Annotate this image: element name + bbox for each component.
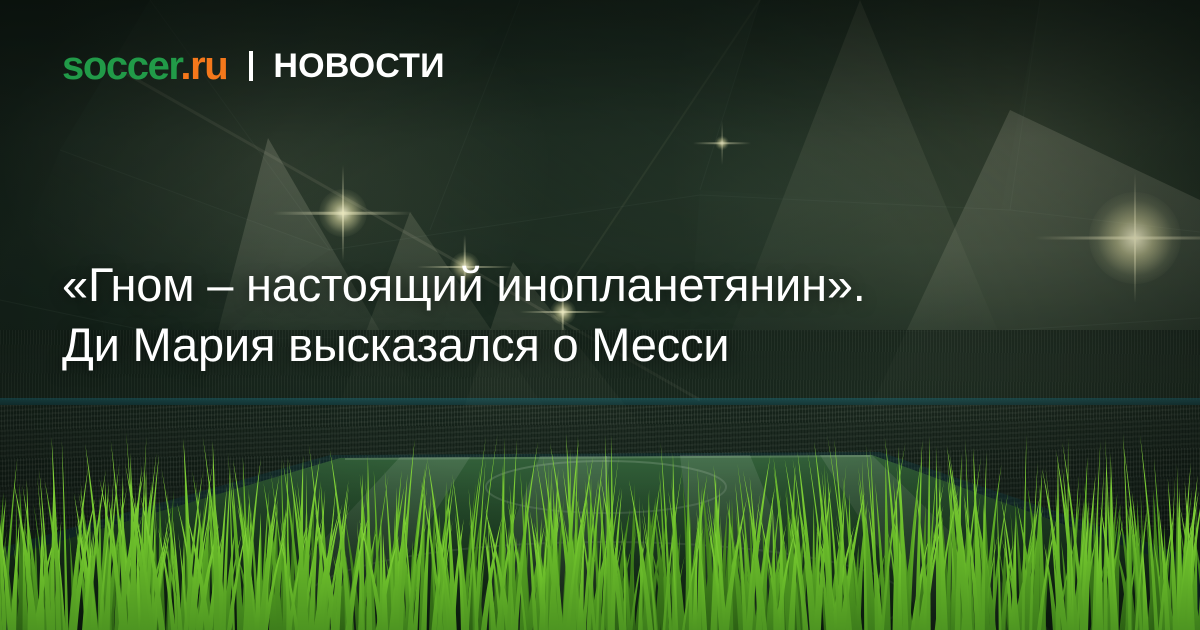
site-logo[interactable]: soccer.ru [62,46,227,86]
headline-line-1: «Гном – настоящий инопланетянин». [62,255,1152,315]
news-banner: soccer.ru НОВОСТИ «Гном – настоящий иноп… [0,0,1200,630]
article-headline: «Гном – настоящий инопланетянин». Ди Мар… [62,255,1152,375]
floodlight-flare-4 [687,108,757,178]
site-header: soccer.ru НОВОСТИ [62,46,445,86]
logo-text-ru: .ru [180,44,227,88]
section-label-news[interactable]: НОВОСТИ [273,49,444,83]
stadium-barrier-rail [0,398,1200,405]
logo-text-soccer: soccer [62,44,180,88]
foreground-grass [0,415,1200,630]
headline-line-2: Ди Мария высказался о Месси [62,315,1152,375]
header-separator [249,51,253,81]
